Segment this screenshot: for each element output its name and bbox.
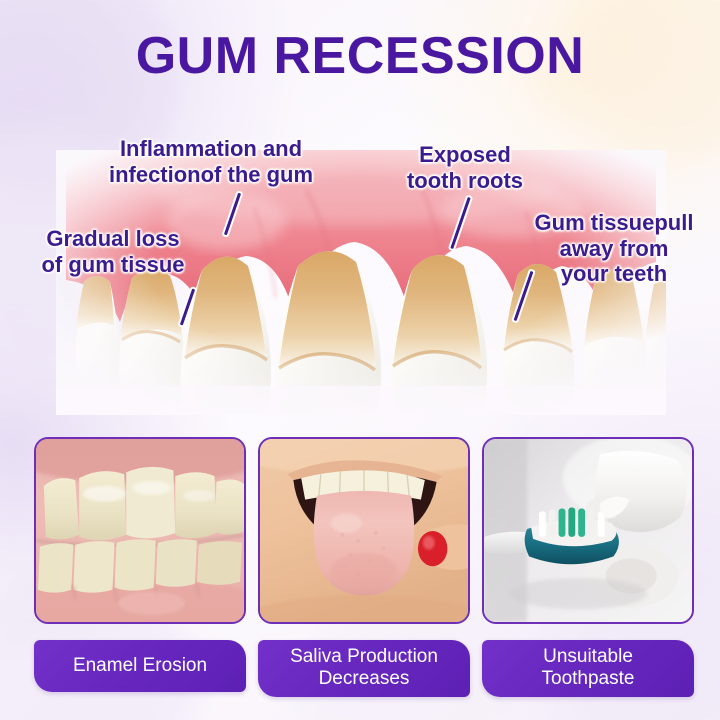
callout-gum-pull-away-label: Gum tissuepull away from your teeth bbox=[516, 210, 712, 287]
page-title: GUM RECESSION bbox=[0, 28, 720, 84]
photo-teeth-closeup bbox=[34, 437, 246, 624]
cause-cards-row: Enamel Erosion bbox=[0, 437, 720, 720]
card-unsuitable-toothpaste[interactable]: Unsuitable Toothpaste bbox=[482, 437, 694, 697]
photo-toothbrush-paste bbox=[482, 437, 694, 624]
card-enamel-erosion[interactable]: Enamel Erosion bbox=[34, 437, 246, 692]
infographic-page: GUM RECESSION bbox=[0, 0, 720, 720]
teeth-closeup-graphic bbox=[36, 439, 244, 622]
photo-tongue-out bbox=[258, 437, 470, 624]
caption-unsuitable-toothpaste[interactable]: Unsuitable Toothpaste bbox=[482, 640, 694, 697]
toothbrush-paste-graphic bbox=[484, 439, 692, 622]
caption-saliva-production[interactable]: Saliva Production Decreases bbox=[258, 640, 470, 697]
card-saliva-production[interactable]: Saliva Production Decreases bbox=[258, 437, 470, 697]
caption-enamel-erosion[interactable]: Enamel Erosion bbox=[34, 640, 246, 692]
callout-gradual-loss-label: Gradual loss of gum tissue bbox=[18, 226, 208, 277]
callout-exposed-roots-label: Exposed tooth roots bbox=[400, 142, 530, 193]
tongue-out-graphic bbox=[260, 439, 468, 622]
callout-inflammation-label: Inflammation and infectionof the gum bbox=[86, 136, 336, 187]
